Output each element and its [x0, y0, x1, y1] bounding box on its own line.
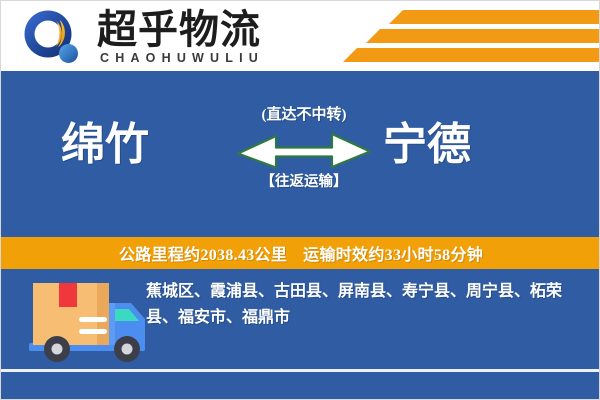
company-logo-icon — [23, 9, 83, 67]
logistics-route-banner: 超乎物流 CHAOHUWULIU 绵竹 (直达不中转) 【往返运输】 宁德 公路… — [0, 0, 600, 400]
coverage-area-list: 蕉城区、霞浦县、古田县、屏南县、寿宁县、周宁县、柘荣县、福安市、福鼎市 — [146, 279, 591, 331]
ground-line-divider — [1, 369, 600, 372]
brand-name-cn: 超乎物流 — [97, 8, 261, 52]
double-headed-arrow-icon — [236, 128, 372, 170]
origin-city: 绵竹 — [61, 119, 149, 171]
banner-header: 超乎物流 CHAOHUWULIU — [1, 1, 600, 71]
stripe-3 — [343, 48, 600, 62]
duration-text: 运输时效约33小时58分钟 — [303, 247, 483, 264]
direct-shipping-note: (直达不中转) — [229, 105, 379, 125]
destination-city: 宁德 — [383, 119, 471, 171]
header-stripes-decoration — [343, 10, 600, 64]
banner-body: 绵竹 (直达不中转) 【往返运输】 宁德 公路里程约2038.43公里运输时效约… — [1, 71, 600, 400]
brand-name-en: CHAOHUWULIU — [100, 51, 264, 65]
distance-text: 公路里程约2038.43公里 — [119, 247, 287, 264]
route-section: 绵竹 (直达不中转) 【往返运输】 宁德 — [1, 71, 600, 237]
stripe-1 — [389, 10, 600, 24]
stripe-2 — [366, 29, 600, 43]
info-bar-text: 公路里程约2038.43公里运输时效约33小时58分钟 — [119, 241, 483, 265]
delivery-truck-icon — [21, 277, 151, 369]
return-shipping-note: 【往返运输】 — [229, 172, 379, 192]
route-info-bar: 公路里程约2038.43公里运输时效约33小时58分钟 — [1, 237, 600, 269]
route-arrow-block: (直达不中转) 【往返运输】 — [229, 105, 379, 209]
